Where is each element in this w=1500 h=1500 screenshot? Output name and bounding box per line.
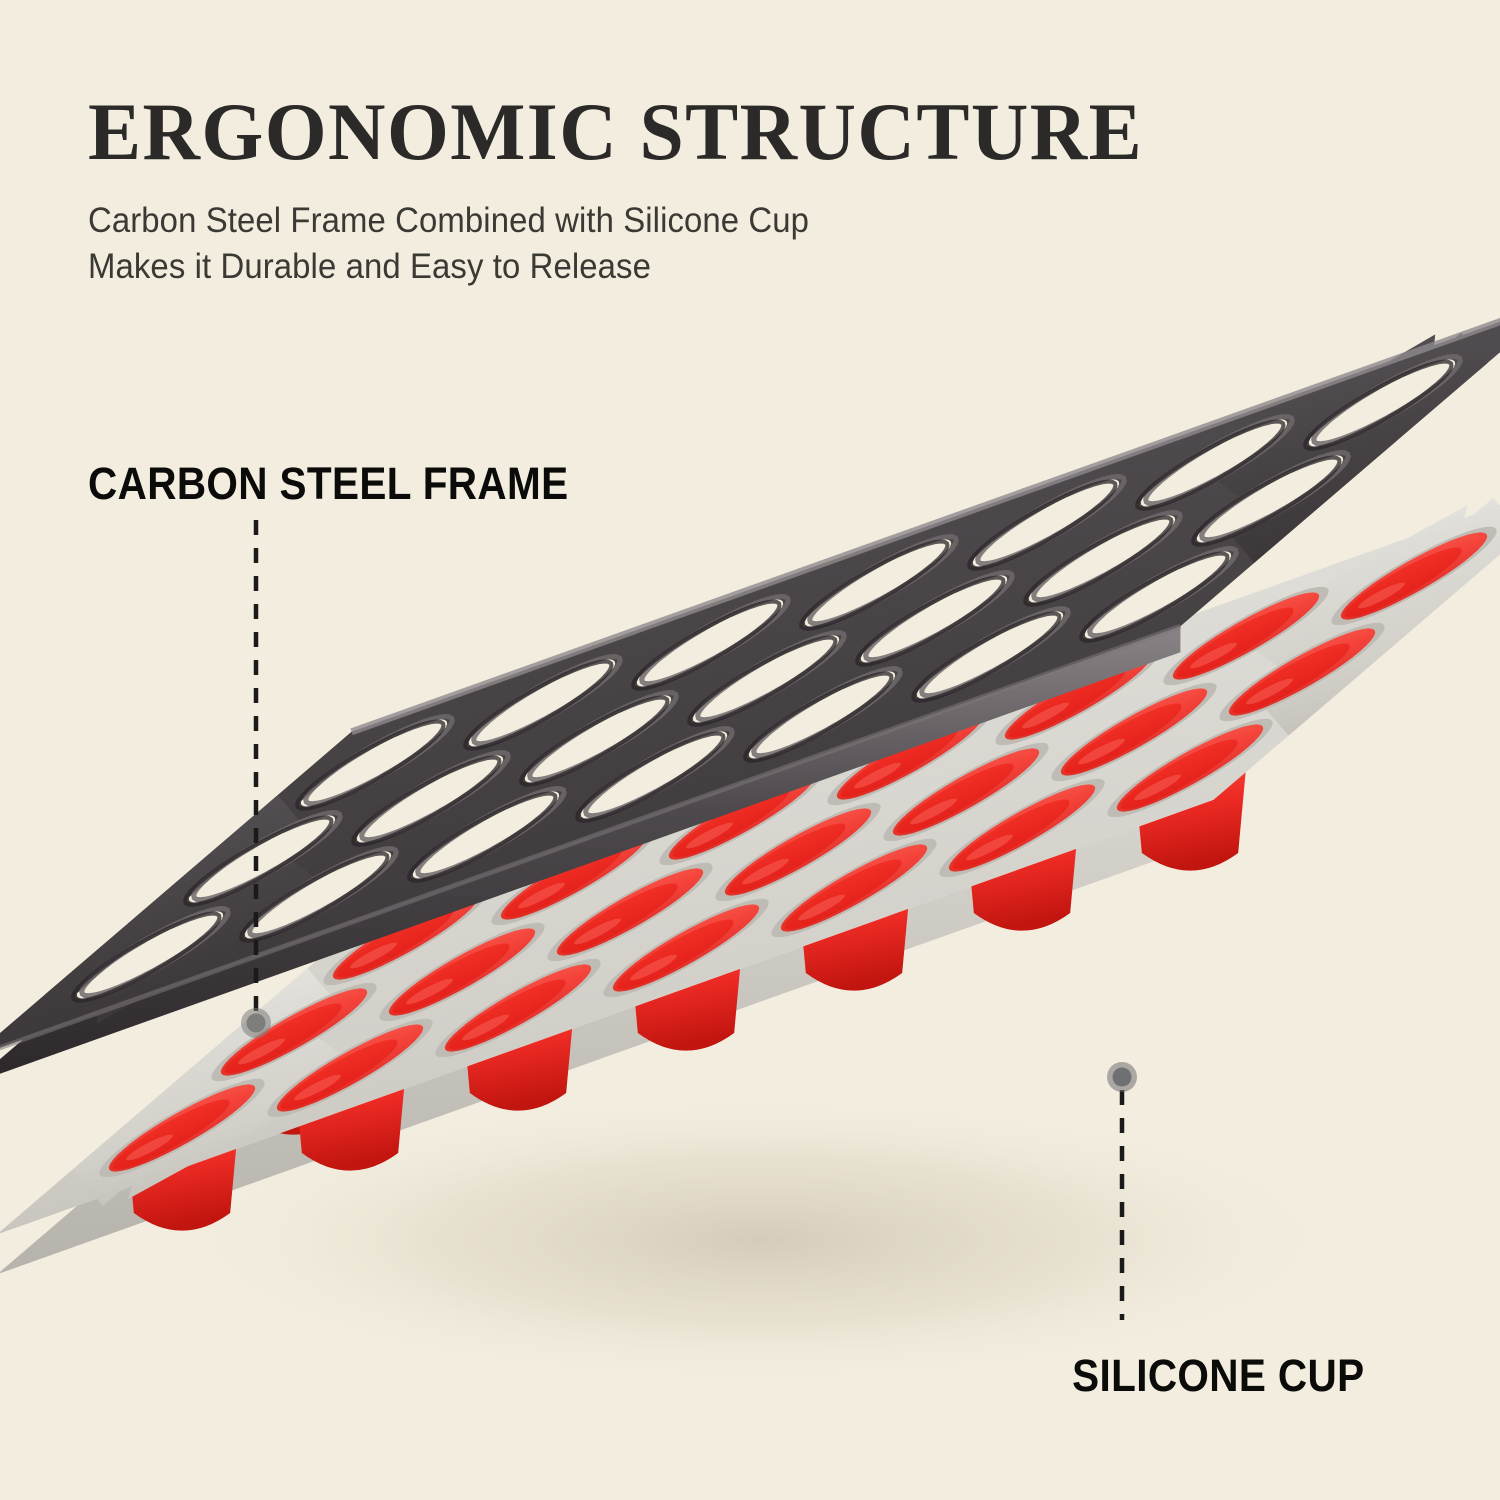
- silicone-cup-interior: [729, 824, 846, 894]
- frame-hole-bevel: [922, 609, 1068, 696]
- frame-hole-bevel: [642, 597, 789, 684]
- frame-hole-bevel: [250, 849, 397, 936]
- silicone-cup-rim: [221, 988, 367, 1075]
- frame-hole-bevel: [362, 753, 509, 840]
- frame-back-edge-highlight: [352, 300, 1500, 732]
- silicone-cup-highlight: [406, 979, 453, 1005]
- silicone-cup-rim: [725, 808, 871, 895]
- frame-hole-shadow: [185, 818, 331, 905]
- frame-hole-shadow: [353, 758, 499, 845]
- frame-hole-bevel: [586, 729, 733, 816]
- tray-well-recess: [1331, 527, 1496, 626]
- frame-hole-shadow: [1305, 362, 1451, 449]
- silicone-cup-rim: [1229, 628, 1375, 715]
- silicone-cup-rim: [557, 868, 703, 955]
- silicone-cup-interior: [1177, 608, 1294, 678]
- frame-hole-bevel: [418, 789, 565, 876]
- frame-handle-left: [45, 795, 330, 1025]
- silicone-cup-highlight: [350, 943, 397, 969]
- frame-hole-shadow: [1193, 458, 1339, 545]
- silicone-cup-highlight: [966, 835, 1013, 861]
- silicone-cup-rim: [669, 772, 815, 859]
- tray-cup-undersides: [126, 768, 1246, 1231]
- silicone-cup-rim: [1061, 688, 1207, 775]
- silicone-cup-highlight: [910, 799, 957, 825]
- tray-well-recess: [547, 863, 712, 962]
- frame-hole-shadow: [745, 674, 891, 761]
- silicone-cup-underside: [350, 936, 462, 1039]
- silicone-cup-underside: [294, 1068, 406, 1171]
- frame-hole-bevel: [1034, 513, 1181, 600]
- callout-dot-carbon-steel-frame: [247, 1014, 266, 1033]
- tray-well-recess: [1051, 683, 1216, 782]
- silicone-cup-rim: [949, 784, 1095, 871]
- silicone-tray: [0, 470, 1500, 1275]
- page-title: ERGONOMIC STRUCTURE: [88, 92, 1378, 172]
- silicone-cup-highlight: [686, 823, 733, 849]
- frame-hole-bevel: [698, 633, 845, 720]
- silicone-cup-underside: [798, 888, 910, 991]
- silicone-cup-interior: [281, 1040, 398, 1110]
- callout-label-carbon-steel-frame: CARBON STEEL FRAME: [88, 458, 569, 510]
- frame-side-face: [0, 626, 1180, 1084]
- silicone-cup-rim: [1341, 532, 1487, 619]
- callout-dot-ring-carbon-steel-frame: [241, 1008, 271, 1038]
- silicone-cup-interior: [393, 944, 510, 1014]
- silicone-cup-highlight: [238, 1039, 285, 1065]
- frame-hole-bevel: [194, 813, 341, 900]
- tray-well-recess: [715, 803, 880, 902]
- silicone-cup-rim: [501, 832, 647, 919]
- silicone-cup-rim: [389, 928, 535, 1015]
- silicone-cup-interior: [953, 800, 1070, 870]
- tray-well-recess: [883, 743, 1048, 842]
- silicone-cup-interior: [897, 764, 1014, 834]
- frame-hole-bevel: [978, 477, 1124, 564]
- silicone-cup-highlight: [1134, 775, 1181, 801]
- tray-well-recess: [491, 827, 656, 926]
- frame-hole-bevel: [810, 537, 957, 624]
- subtitle-line-1: Carbon Steel Frame Combined with Silicon…: [88, 201, 809, 240]
- silicone-cup-interior: [841, 728, 958, 798]
- tray-handle-left: [72, 968, 363, 1206]
- silicone-cup-rim: [1005, 652, 1151, 739]
- frame-hole-bevel: [754, 669, 901, 756]
- subtitle-line-2: Makes it Durable and Easy to Release: [88, 247, 651, 286]
- frame-hole-shadow: [409, 794, 555, 881]
- tray-well-recess: [939, 779, 1104, 878]
- silicone-cup-underside: [630, 948, 742, 1051]
- tray-well-recess: [99, 1079, 264, 1178]
- silicone-cup-interior: [561, 884, 678, 954]
- silicone-cup-rim: [837, 712, 983, 799]
- tray-top-surface: [0, 470, 1500, 1235]
- carbon-steel-frame: [0, 300, 1500, 1084]
- silicone-cup-interior: [505, 848, 622, 918]
- tray-well-recess: [435, 959, 600, 1058]
- frame-hole-shadow: [465, 662, 611, 749]
- frame-hole-shadow: [73, 914, 219, 1001]
- frame-perforated-plate: [0, 300, 1500, 1058]
- frame-hole-shadow: [801, 542, 947, 629]
- silicone-cup-interior: [225, 1004, 342, 1074]
- silicone-cup-highlight: [462, 1015, 509, 1041]
- tray-side-face: [0, 800, 1214, 1274]
- silicone-cup-interior: [617, 920, 734, 990]
- silicone-cup-interior: [337, 908, 454, 978]
- silicone-cup-highlight: [854, 763, 901, 789]
- frame-hole-bevel: [306, 717, 453, 804]
- frame-hole-bevel: [1202, 453, 1349, 540]
- frame-hole-bevel: [1090, 549, 1237, 636]
- silicone-cup-highlight: [294, 1075, 341, 1101]
- silicone-cup-highlight: [1246, 679, 1293, 705]
- silicone-cup-highlight: [798, 895, 845, 921]
- silicone-cup-highlight: [1022, 703, 1069, 729]
- frame-hole-shadow: [633, 602, 779, 689]
- frame-hole-shadow: [969, 482, 1115, 569]
- tray-well-recess: [267, 1019, 432, 1118]
- tray-well-recess: [603, 899, 768, 998]
- silicone-cup-underside: [462, 1008, 574, 1111]
- silicone-cup-highlight: [742, 859, 789, 885]
- frame-hole-shadow: [241, 854, 387, 941]
- silicone-cup-rim: [781, 844, 927, 931]
- silicone-cup-interior: [449, 980, 566, 1050]
- tray-well-recess: [1219, 623, 1384, 722]
- frame-front-edge-highlight: [0, 626, 1180, 1058]
- silicone-cup-highlight: [1358, 583, 1405, 609]
- tray-well-recess: [995, 647, 1160, 746]
- callout-dot-ring-silicone-cup: [1107, 1062, 1137, 1092]
- frame-hole-shadow: [913, 614, 1059, 701]
- frame-hole-shadow: [521, 698, 667, 785]
- tray-handle-right: [1233, 498, 1500, 735]
- silicone-cup-highlight: [1190, 643, 1237, 669]
- silicone-cup-interior: [1065, 704, 1182, 774]
- silicone-cup-underside: [966, 828, 1078, 931]
- tray-well-recess: [323, 887, 488, 986]
- silicone-cup-rim: [613, 904, 759, 991]
- tray-well-recess: [379, 923, 544, 1022]
- frame-top-surface: [0, 300, 1500, 1058]
- tray-well-recess: [827, 707, 992, 806]
- page-subtitle: Carbon Steel Frame Combined with Silicon…: [88, 198, 1338, 289]
- silicone-cup-highlight: [1078, 739, 1125, 765]
- frame-hole-bevel: [1146, 417, 1293, 504]
- tray-well-recess: [211, 983, 376, 1082]
- frame-hole-shadow: [689, 638, 835, 725]
- tray-well-recess: [1107, 719, 1272, 818]
- silicone-cup-rim: [277, 1024, 423, 1111]
- callout-label-silicone-cup: SILICONE CUP: [1364, 1350, 1500, 1402]
- silicone-cup-interior: [1345, 548, 1462, 618]
- frame-hole-bevel: [866, 573, 1013, 660]
- silicone-cup-underside: [1134, 768, 1246, 871]
- frame-hole-bevel: [474, 657, 621, 744]
- silicone-cup-highlight: [630, 955, 677, 981]
- silicone-cup-underside: [238, 1032, 350, 1135]
- tray-well-recess: [771, 839, 936, 938]
- silicone-cup-interior: [673, 788, 790, 858]
- callout-dot-silicone-cup: [1113, 1068, 1132, 1087]
- frame-hole-shadow: [1081, 554, 1227, 641]
- frame-handle-right: [1202, 333, 1487, 563]
- silicone-cup-interior: [1233, 644, 1350, 714]
- silicone-cup-rim: [1173, 592, 1319, 679]
- silicone-cup-interior: [113, 1100, 230, 1170]
- frame-hole-bevel: [1314, 357, 1461, 444]
- silicone-cup-rim: [109, 1084, 255, 1171]
- infographic-canvas: ERGONOMIC STRUCTURE Carbon Steel Frame C…: [0, 0, 1500, 1500]
- silicone-cup-rim: [1117, 724, 1263, 811]
- silicone-cup-highlight: [574, 919, 621, 945]
- silicone-cup-rim: [445, 964, 591, 1051]
- silicone-cup-underside: [126, 1128, 238, 1231]
- tray-well-recess: [1163, 587, 1328, 686]
- frame-hole-bevel: [530, 693, 677, 780]
- silicone-cup-interior: [1009, 668, 1126, 738]
- callout-label-silicone-cup-text: SILICONE CUP: [1072, 1350, 1364, 1402]
- frame-hole-shadow: [577, 734, 723, 821]
- silicone-cup-interior: [785, 860, 902, 930]
- silicone-cup-interior: [1121, 740, 1238, 810]
- silicone-cup-rim: [893, 748, 1039, 835]
- silicone-cup-highlight: [518, 883, 565, 909]
- headline-block: ERGONOMIC STRUCTURE Carbon Steel Frame C…: [88, 92, 1418, 289]
- silicone-cup-highlight: [126, 1135, 173, 1161]
- frame-hole-shadow: [1025, 518, 1171, 605]
- product-drop-shadow: [160, 1090, 1360, 1390]
- frame-hole-bevel: [82, 909, 229, 996]
- frame-hole-shadow: [857, 578, 1003, 665]
- frame-hole-shadow: [297, 722, 443, 809]
- silicone-cup-rim: [333, 892, 479, 979]
- tray-well-recess: [659, 767, 824, 866]
- frame-hole-shadow: [1137, 422, 1283, 509]
